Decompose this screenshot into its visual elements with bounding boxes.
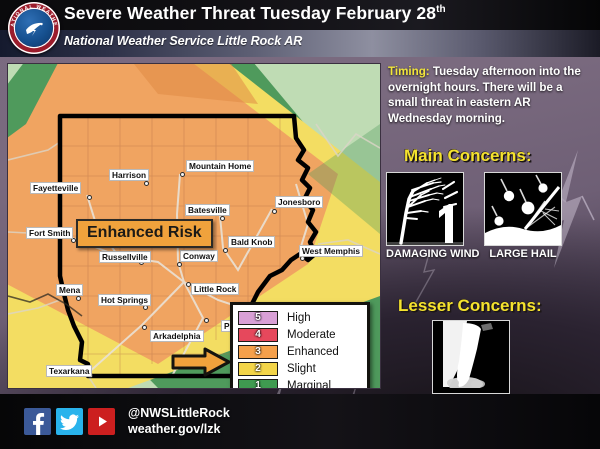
risk-category-legend[interactable]: 5High4Moderate3Enhanced2Slight1MarginalT… xyxy=(230,302,370,388)
city-label: Bald Knob xyxy=(228,236,275,248)
national-weather-service-logo: NATIONAL WEATHER SERVICE xyxy=(8,2,60,54)
legend-swatch: 3 xyxy=(238,345,278,359)
legend-row: 2Slight xyxy=(238,360,362,377)
office-subtitle: National Weather Service Little Rock AR xyxy=(64,34,302,48)
legend-swatch: 5 xyxy=(238,311,278,325)
city-label: Batesville xyxy=(185,204,230,216)
page-title-text: Severe Weather Threat Tuesday February 2… xyxy=(64,3,436,23)
legend-row: 5High xyxy=(238,309,362,326)
tornadoes-image xyxy=(432,320,510,394)
timing-text: Timing: Tuesday afternoon into the overn… xyxy=(388,64,595,126)
website-url: weather.gov/lzk xyxy=(128,421,230,437)
hailstones-icon xyxy=(485,173,561,245)
city-label: Mena xyxy=(56,284,83,296)
timing-keyword: Timing: xyxy=(388,65,430,78)
city-label: Arkadelphia xyxy=(150,330,204,342)
legend-label: Marginal xyxy=(287,380,331,389)
city-dot xyxy=(144,181,149,186)
city-label: Little Rock xyxy=(191,283,239,295)
contact-info: @NWSLittleRock weather.gov/lzk xyxy=(128,405,230,437)
logo-bird-lightning-icon xyxy=(25,21,45,37)
wind-blown-tree-icon xyxy=(387,173,463,245)
city-dot xyxy=(177,262,182,267)
logo-inner-disc xyxy=(15,9,53,47)
city-label: Texarkana xyxy=(46,365,92,377)
city-label: Fayetteville xyxy=(30,182,81,194)
social-links[interactable] xyxy=(24,408,115,435)
legend-row: 4Moderate xyxy=(238,326,362,343)
tornado-funnel-icon xyxy=(433,321,509,393)
enhanced-risk-callout: Enhanced Risk xyxy=(76,219,213,248)
city-label: Jonesboro xyxy=(275,196,323,208)
legend-swatch: 4 xyxy=(238,328,278,342)
main-concerns-heading: Main Concerns: xyxy=(404,146,532,166)
city-dot xyxy=(87,195,92,200)
city-dot xyxy=(223,248,228,253)
social-handle: @NWSLittleRock xyxy=(128,405,230,421)
lesser-concerns-heading: Lesser Concerns: xyxy=(398,296,542,316)
city-dot xyxy=(204,318,209,323)
risk-area-map[interactable]: FayettevilleHarrisonMountain HomeJonesbo… xyxy=(8,64,380,388)
youtube-icon[interactable] xyxy=(88,408,115,435)
large-hail-image xyxy=(484,172,562,246)
legend-swatch: 1 xyxy=(238,379,278,389)
concern-large-hail: LARGE HAIL xyxy=(484,172,562,260)
severe-weather-threat-graphic: NATIONAL WEATHER SERVICE Severe Weather … xyxy=(0,0,600,449)
damaging-wind-image xyxy=(386,172,464,246)
city-label: Russellville xyxy=(99,251,151,263)
city-dot xyxy=(142,325,147,330)
legend-label: High xyxy=(287,312,311,324)
legend-row: 3Enhanced xyxy=(238,343,362,360)
facebook-icon[interactable] xyxy=(24,408,51,435)
pointer-arrow-to-legend xyxy=(171,347,231,377)
concern-damaging-wind: DAMAGING WIND xyxy=(386,172,480,260)
legend-label: Slight xyxy=(287,363,316,375)
twitter-icon[interactable] xyxy=(56,408,83,435)
legend-label: Moderate xyxy=(287,329,336,341)
city-label: Hot Springs xyxy=(98,294,151,306)
large-hail-label: LARGE HAIL xyxy=(484,248,562,260)
city-label: Mountain Home xyxy=(186,160,254,172)
city-dot xyxy=(76,296,81,301)
city-label: Conway xyxy=(180,250,218,262)
legend-swatch: 2 xyxy=(238,362,278,376)
damaging-wind-label: DAMAGING WIND xyxy=(386,248,480,260)
city-dot xyxy=(220,216,225,221)
city-label: Harrison xyxy=(109,169,149,181)
city-label: West Memphis xyxy=(299,245,363,257)
city-label: Fort Smith xyxy=(26,227,73,239)
legend-label: Enhanced xyxy=(287,346,339,358)
city-dot xyxy=(272,209,277,214)
page-title: Severe Weather Threat Tuesday February 2… xyxy=(64,3,446,24)
legend-row: 1Marginal xyxy=(238,377,362,388)
city-dot xyxy=(180,172,185,177)
page-title-ordinal: th xyxy=(436,4,446,15)
